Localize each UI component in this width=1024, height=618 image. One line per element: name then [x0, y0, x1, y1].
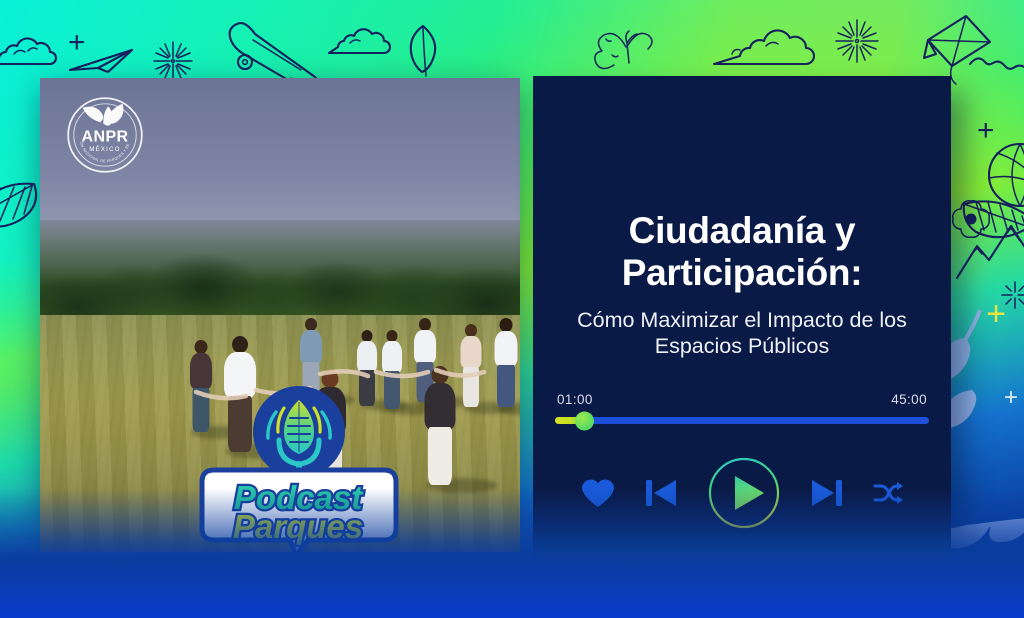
bottom-color-band	[0, 488, 1024, 618]
sparkle-doodle	[152, 40, 194, 82]
sparkle-doodle	[834, 18, 880, 64]
cloud-doodle	[710, 18, 820, 70]
cloud-doodle	[326, 22, 398, 58]
anpr-logo: ANPR MÉXICO ASOCIACIÓN NACIONAL DE PARQU…	[65, 95, 145, 175]
title-block: Ciudadanía y Participación: Cómo Maximiz…	[533, 210, 951, 360]
plus-doodle: +	[1004, 386, 1018, 410]
podcast-episode-graphic: + +	[0, 0, 1024, 618]
plus-doodle: +	[986, 297, 1006, 331]
progress-slider[interactable]	[555, 417, 929, 424]
bird-doodle	[968, 52, 1024, 78]
butterfly-doodle	[594, 25, 656, 73]
progress-area: 01:00 45:00	[555, 392, 929, 424]
episode-subtitle: Cómo Maximizar el Impacto de los Espacio…	[551, 307, 933, 361]
leaf-doodle	[405, 22, 441, 78]
cloud-doodle	[0, 30, 68, 70]
paper-plane-doodle	[68, 48, 134, 74]
episode-artwork: ANPR MÉXICO ASOCIACIÓN NACIONAL DE PARQU…	[40, 78, 520, 552]
anpr-country: MÉXICO	[89, 146, 120, 153]
time-row: 01:00 45:00	[555, 392, 929, 417]
mountains-doodle	[955, 222, 1024, 282]
total-time: 45:00	[891, 392, 927, 407]
progress-thumb[interactable]	[575, 411, 594, 430]
elapsed-time: 01:00	[557, 392, 593, 407]
page-title: Ciudadanía y Participación:	[551, 210, 933, 294]
anpr-wordmark: ANPR	[82, 128, 129, 145]
